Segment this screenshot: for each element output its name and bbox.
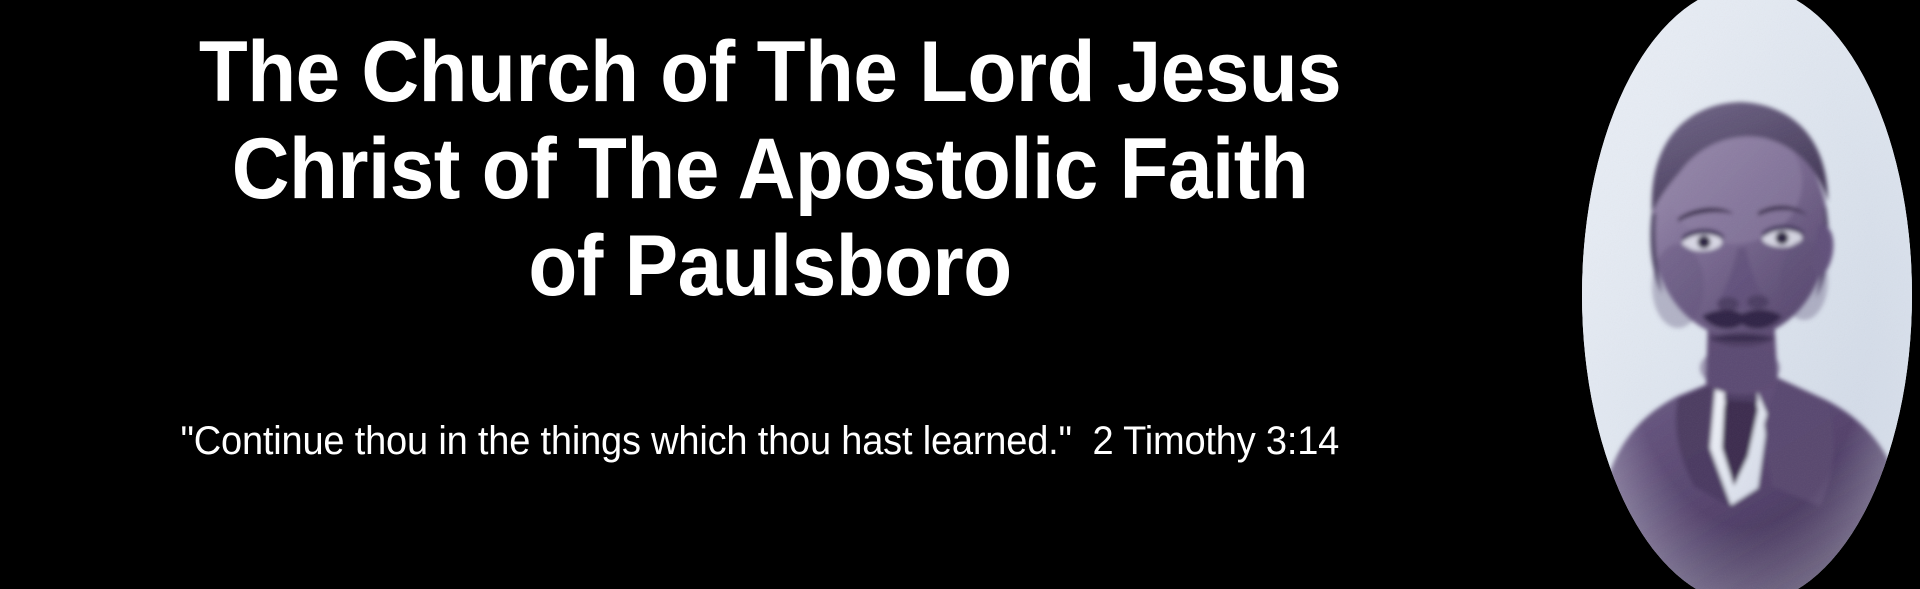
church-banner: The Church of The Lord Jesus Christ of T… xyxy=(0,0,1920,589)
title-line-3: of Paulsboro xyxy=(54,218,1486,315)
portrait-image xyxy=(1582,0,1912,589)
scripture-text: "Continue thou in the things which thou … xyxy=(181,415,1340,467)
title-line-1: The Church of The Lord Jesus xyxy=(54,24,1486,121)
pastor-portrait xyxy=(1582,0,1912,589)
portrait-oval-frame xyxy=(1582,0,1912,589)
church-name-title: The Church of The Lord Jesus Christ of T… xyxy=(0,24,1540,315)
scripture-quote: "Continue thou in the things which thou … xyxy=(0,415,1520,467)
title-line-2: Christ of The Apostolic Faith xyxy=(54,121,1486,218)
